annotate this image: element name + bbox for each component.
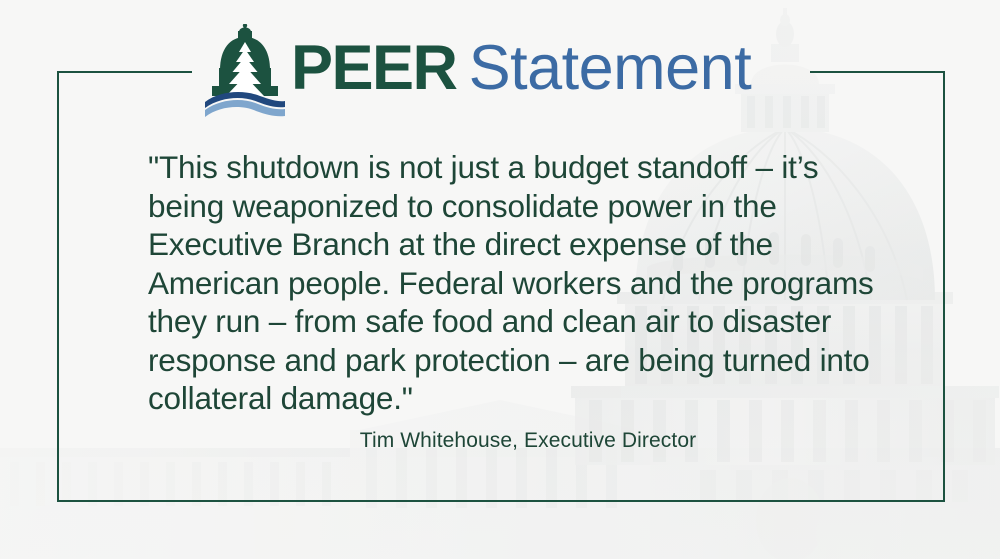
quote-line: "This shutdown is not just a budget stan… [148, 148, 908, 187]
quote-line: being weaponized to consolidate power in… [148, 187, 908, 226]
quote-line: American people. Federal workers and the… [148, 264, 908, 303]
frame-bottom-segment [57, 500, 945, 502]
quote-text: "This shutdown is not just a budget stan… [148, 148, 908, 418]
quote-line: response and park protection – are being… [148, 341, 908, 380]
quote-line: collateral damage." [148, 379, 908, 418]
peer-statement-wordmark: PEERStatement [291, 37, 751, 108]
quote-line: they run – from safe food and clean air … [148, 302, 908, 341]
frame-top-right-segment [810, 71, 945, 73]
wordmark-statement: Statement [469, 33, 752, 103]
quote-attribution: Tim Whitehouse, Executive Director [148, 427, 908, 455]
quote-line: Executive Branch at the direct expense o… [148, 225, 908, 264]
frame-left-segment [57, 71, 59, 502]
peer-statement-graphic: PEERStatement "This shutdown is not just… [0, 0, 1000, 559]
wordmark-peer: PEER [291, 33, 457, 103]
header: PEERStatement [205, 22, 805, 122]
frame-top-left-segment [57, 71, 192, 73]
peer-logo-icon [205, 24, 285, 120]
frame-right-segment [943, 71, 945, 502]
